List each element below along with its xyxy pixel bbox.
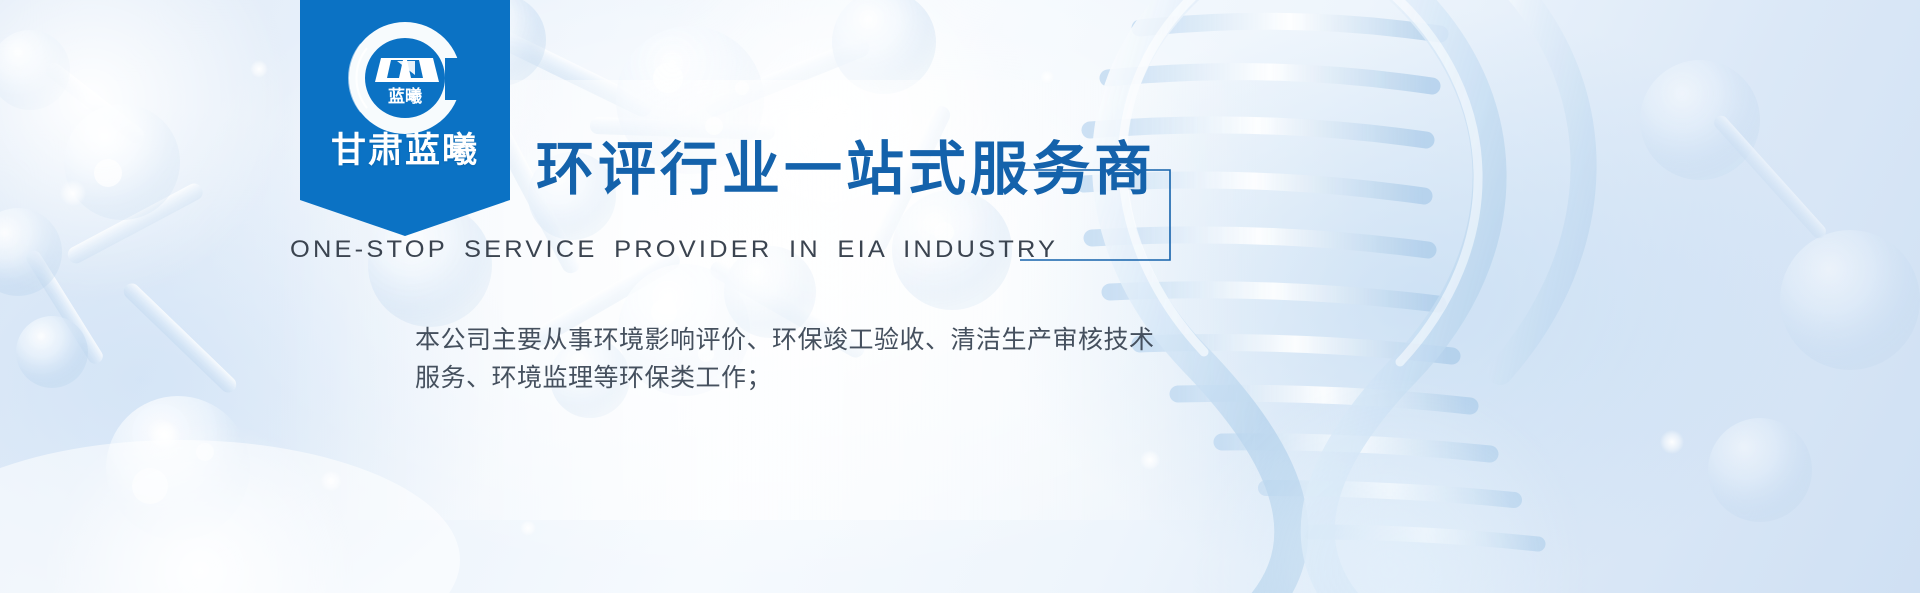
molecule-cluster-right (1640, 60, 1920, 522)
bokeh-dot (520, 520, 536, 536)
background-artwork (0, 0, 1920, 593)
company-description: 本公司主要从事环境影响评价、环保竣工验收、清洁生产审核技术 服务、环境监理等环保… (415, 322, 1195, 398)
logo-wordmark-text: 蓝曦 (388, 86, 422, 106)
bokeh-dot (320, 470, 342, 492)
hero-banner: 蓝曦 甘肃蓝曦 环评行业一站式服务商 ONE-STOP SERVICE PROV… (0, 0, 1920, 593)
bokeh-dot (60, 180, 86, 206)
company-logo-badge[interactable]: 蓝曦 甘肃蓝曦 (300, 0, 510, 236)
bokeh-dot (150, 420, 180, 450)
description-line-1: 本公司主要从事环境影响评价、环保竣工验收、清洁生产审核技术 (415, 322, 1195, 360)
company-short-name: 甘肃蓝曦 (300, 122, 510, 173)
hero-subline: ONE-STOP SERVICE PROVIDER IN EIA INDUSTR… (290, 236, 1058, 264)
bokeh-dot (250, 60, 268, 78)
bokeh-dot (1040, 70, 1054, 84)
description-line-2: 服务、环境监理等环保类工作； (415, 360, 1195, 398)
bokeh-dot (1660, 430, 1684, 454)
bokeh-dot (1140, 450, 1160, 470)
hero-headline: 环评行业一站式服务商 (536, 139, 1156, 201)
